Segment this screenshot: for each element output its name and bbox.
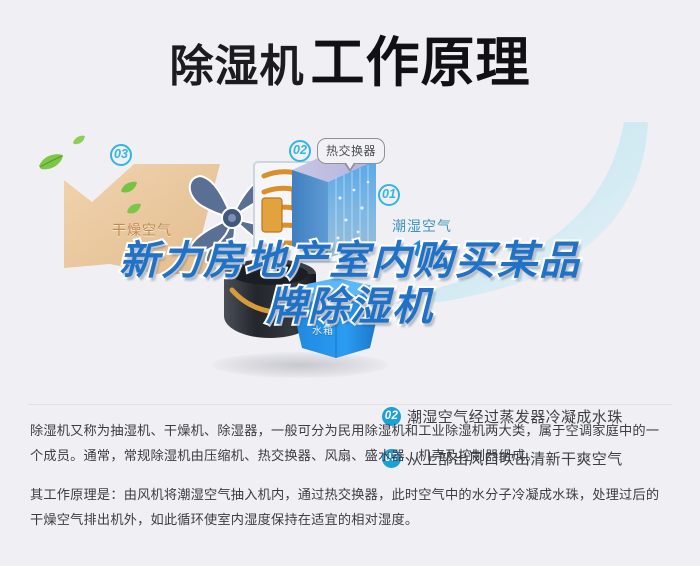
badge-03-dry-air: 03 <box>110 144 132 166</box>
title-main: 除湿机 <box>170 42 305 91</box>
leaf-icon <box>126 202 142 216</box>
leaf-icon <box>38 152 64 172</box>
title-sub: 工作原理 <box>311 33 531 93</box>
dehumidifier-machine: 水箱 <box>170 128 430 386</box>
label-heat-exchanger: 热交换器 <box>317 138 385 164</box>
intake-arrow-icon <box>406 240 450 258</box>
machine-shadow <box>212 352 388 378</box>
body-paragraph-1: 除湿机又称为抽湿机、干燥机、除湿器，一般可分为民用除湿机和工业除湿机两大类，属于… <box>30 418 672 468</box>
illustration-stage: 水箱 03 干燥空气 02 热交换器 01 潮湿空气 02潮湿空气经过蒸发器冷凝… <box>0 118 700 388</box>
badge-01-humid-air: 01 <box>378 184 400 206</box>
infographic-page: 除湿机工作原理 <box>0 0 700 566</box>
page-title: 除湿机工作原理 <box>0 18 700 97</box>
body-paragraph-2: 其工作原理是：由风机将潮湿空气抽入机内，通过热交换器，此时空气中的水分子冷凝成水… <box>30 482 672 532</box>
label-dry-air: 干燥空气 <box>112 220 172 240</box>
section-divider <box>28 404 672 405</box>
leaf-icon <box>72 134 86 146</box>
leaf-icon <box>120 180 138 195</box>
water-tank <box>286 278 386 360</box>
label-humid-air: 潮湿空气 <box>392 216 452 236</box>
body-copy: 除湿机又称为抽湿机、干燥机、除湿器，一般可分为民用除湿机和工业除湿机两大类，属于… <box>30 418 672 546</box>
water-tank-label: 水箱 <box>312 322 334 337</box>
badge-02-heat-exchanger: 02 <box>289 140 311 162</box>
